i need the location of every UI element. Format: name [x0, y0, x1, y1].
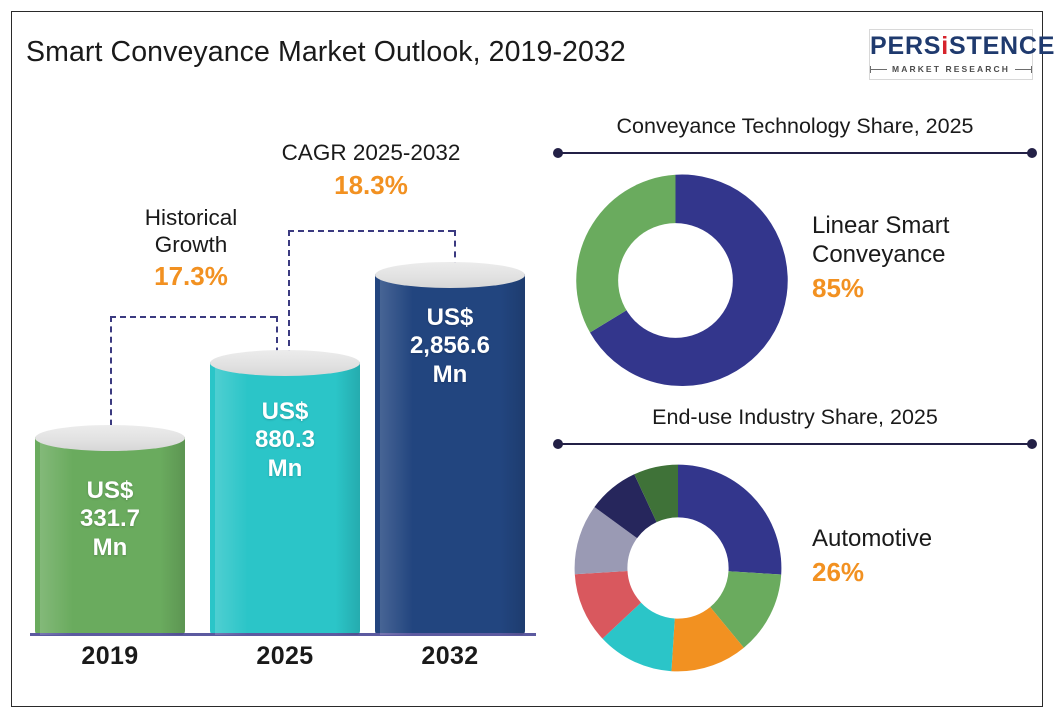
cagr-bracket-left — [288, 230, 290, 366]
axis-label-2025: 2025 — [205, 642, 365, 671]
conveyance-technology-label-line2: Conveyance — [812, 241, 1027, 270]
historical-growth-title-line2: Growth — [105, 232, 277, 259]
donut1-center-hole — [618, 223, 733, 338]
logo-rule-right-icon — [1015, 69, 1032, 70]
conveyance-technology-heading: Conveyance Technology Share, 2025 — [553, 114, 1037, 139]
rule-dot-right-icon — [1027, 148, 1037, 158]
conveyance-technology-donut-svg — [563, 168, 788, 393]
logo-word-part1: PERS — [870, 32, 941, 60]
logo-tagline: MARKET RESEARCH — [892, 64, 1010, 74]
cagr-bracket-top — [288, 230, 454, 232]
infographic-root: Smart Conveyance Market Outlook, 2019-20… — [0, 0, 1056, 720]
page-title: Smart Conveyance Market Outlook, 2019-20… — [26, 36, 626, 69]
bar-2019-cap — [35, 425, 185, 451]
conveyance-technology-label: Linear Smart Conveyance 85% — [812, 212, 1027, 304]
bar-2025-value-line2: 880.3 — [210, 426, 360, 454]
conveyance-technology-label-line1: Linear Smart — [812, 212, 1027, 241]
axis-label-2032: 2032 — [370, 642, 530, 671]
bar-2025-value-line3: Mn — [210, 455, 360, 483]
conveyance-technology-rule — [553, 148, 1037, 158]
logo-tagline-row: MARKET RESEARCH — [870, 64, 1032, 74]
logo-word-i: i — [941, 32, 949, 60]
historical-bracket-top — [110, 316, 276, 318]
historical-growth-title-line1: Historical — [105, 205, 277, 232]
cagr-value: 18.3% — [253, 170, 489, 201]
conveyance-technology-donut — [563, 168, 788, 393]
persistence-market-research-logo: PERSiSTENCE MARKET RESEARCH — [869, 29, 1033, 80]
bar-2019-value-line1: US$ — [35, 477, 185, 505]
rule-dot-right-icon — [1027, 439, 1037, 449]
bar-chart: Historical Growth 17.3% CAGR 2025-2032 1… — [20, 120, 540, 700]
end-use-industry-value: 26% — [812, 557, 1027, 588]
bar-2019-value-line2: 331.7 — [35, 505, 185, 533]
bar-2032-cap — [375, 262, 525, 288]
historical-growth-callout: Historical Growth 17.3% — [105, 205, 277, 292]
bar-2019-value: US$ 331.7 Mn — [35, 477, 185, 562]
historical-growth-value: 17.3% — [105, 261, 277, 292]
bar-2032-value-line2: 2,856.6 — [375, 332, 525, 360]
end-use-industry-heading: End-use Industry Share, 2025 — [553, 405, 1037, 430]
historical-bracket-left — [110, 316, 112, 436]
bar-2025-value: US$ 880.3 Mn — [210, 398, 360, 483]
cagr-title: CAGR 2025-2032 — [253, 140, 489, 167]
bar-2032-value-line1: US$ — [375, 304, 525, 332]
logo-word-part2: STENCE — [949, 32, 1055, 60]
conveyance-technology-section-header: Conveyance Technology Share, 2025 — [553, 114, 1037, 158]
bar-2019: US$ 331.7 Mn — [35, 425, 185, 635]
bar-2032-value: US$ 2,856.6 Mn — [375, 304, 525, 389]
bar-2025-cap — [210, 350, 360, 376]
logo-rule-left-icon — [870, 69, 887, 70]
bar-2025: US$ 880.3 Mn — [210, 350, 360, 635]
end-use-industry-label: Automotive 26% — [812, 525, 1027, 588]
conveyance-technology-value: 85% — [812, 273, 1027, 304]
rule-line — [559, 152, 1031, 154]
rule-line — [559, 443, 1031, 445]
right-panel: Conveyance Technology Share, 2025 Linear… — [540, 100, 1050, 710]
bar-2032-value-line3: Mn — [375, 361, 525, 389]
end-use-industry-donut — [568, 458, 788, 678]
axis-label-2019: 2019 — [30, 642, 190, 671]
chart-baseline — [30, 633, 536, 636]
end-use-industry-label-name: Automotive — [812, 525, 1027, 554]
logo-wordmark: PERSiSTENCE — [870, 34, 1032, 59]
bar-2032: US$ 2,856.6 Mn — [375, 262, 525, 635]
bar-2019-value-line3: Mn — [35, 534, 185, 562]
cagr-callout: CAGR 2025-2032 18.3% — [253, 140, 489, 200]
end-use-industry-rule — [553, 439, 1037, 449]
end-use-industry-donut-svg — [568, 458, 788, 678]
bar-2025-value-line1: US$ — [210, 398, 360, 426]
end-use-industry-section-header: End-use Industry Share, 2025 — [553, 405, 1037, 449]
